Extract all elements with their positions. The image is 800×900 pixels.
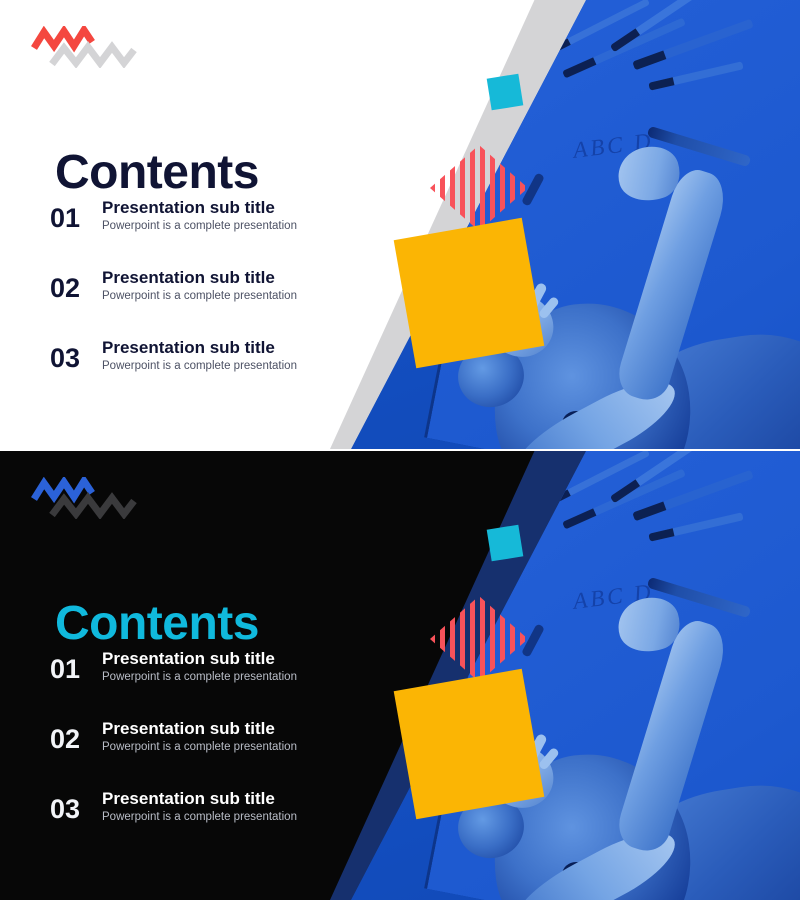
- item-subtitle: Presentation sub title: [102, 718, 297, 739]
- item-description: Powerpoint is a complete presentation: [102, 219, 297, 233]
- yellow-square-shape: [394, 669, 545, 820]
- item-subtitle: Presentation sub title: [102, 197, 297, 218]
- item-number: 03: [50, 796, 96, 823]
- contents-list-dark: 01 Presentation sub title Powerpoint is …: [50, 648, 380, 858]
- artwork-panel-dark: ABC D: [330, 451, 800, 900]
- item-description: Powerpoint is a complete presentation: [102, 740, 297, 754]
- zigzag-logo[interactable]: [30, 477, 145, 519]
- slide-light[interactable]: ABC D: [0, 0, 800, 449]
- slide-dark[interactable]: ABC D: [0, 451, 800, 900]
- list-item[interactable]: 03 Presentation sub title Powerpoint is …: [50, 788, 380, 858]
- item-number: 01: [50, 205, 96, 232]
- contents-list-light: 01 Presentation sub title Powerpoint is …: [50, 197, 380, 407]
- list-item[interactable]: 02 Presentation sub title Powerpoint is …: [50, 718, 380, 788]
- page-title: Contents: [55, 600, 259, 648]
- item-subtitle: Presentation sub title: [102, 648, 297, 669]
- zigzag-logo[interactable]: [30, 26, 145, 68]
- cyan-square-shape: [487, 74, 524, 111]
- item-subtitle: Presentation sub title: [102, 788, 297, 809]
- item-number: 02: [50, 275, 96, 302]
- child-writing-photo: ABC D: [330, 451, 800, 900]
- yellow-square-shape: [394, 218, 545, 369]
- item-number: 01: [50, 656, 96, 683]
- list-item[interactable]: 02 Presentation sub title Powerpoint is …: [50, 267, 380, 337]
- zigzag-gray-icon: [52, 47, 134, 64]
- item-description: Powerpoint is a complete presentation: [102, 289, 297, 303]
- page-title: Contents: [55, 149, 259, 197]
- item-number: 03: [50, 345, 96, 372]
- item-subtitle: Presentation sub title: [102, 337, 297, 358]
- item-subtitle: Presentation sub title: [102, 267, 297, 288]
- cyan-square-shape: [487, 525, 524, 562]
- item-description: Powerpoint is a complete presentation: [102, 670, 297, 684]
- item-description: Powerpoint is a complete presentation: [102, 810, 297, 824]
- zigzag-gray-icon: [52, 498, 134, 515]
- item-number: 02: [50, 726, 96, 753]
- list-item[interactable]: 01 Presentation sub title Powerpoint is …: [50, 197, 380, 267]
- list-item[interactable]: 01 Presentation sub title Powerpoint is …: [50, 648, 380, 718]
- slide-deck: ABC D: [0, 0, 800, 900]
- child-writing-photo: ABC D: [330, 0, 800, 449]
- item-description: Powerpoint is a complete presentation: [102, 359, 297, 373]
- list-item[interactable]: 03 Presentation sub title Powerpoint is …: [50, 337, 380, 407]
- artwork-panel-light: ABC D: [330, 0, 800, 449]
